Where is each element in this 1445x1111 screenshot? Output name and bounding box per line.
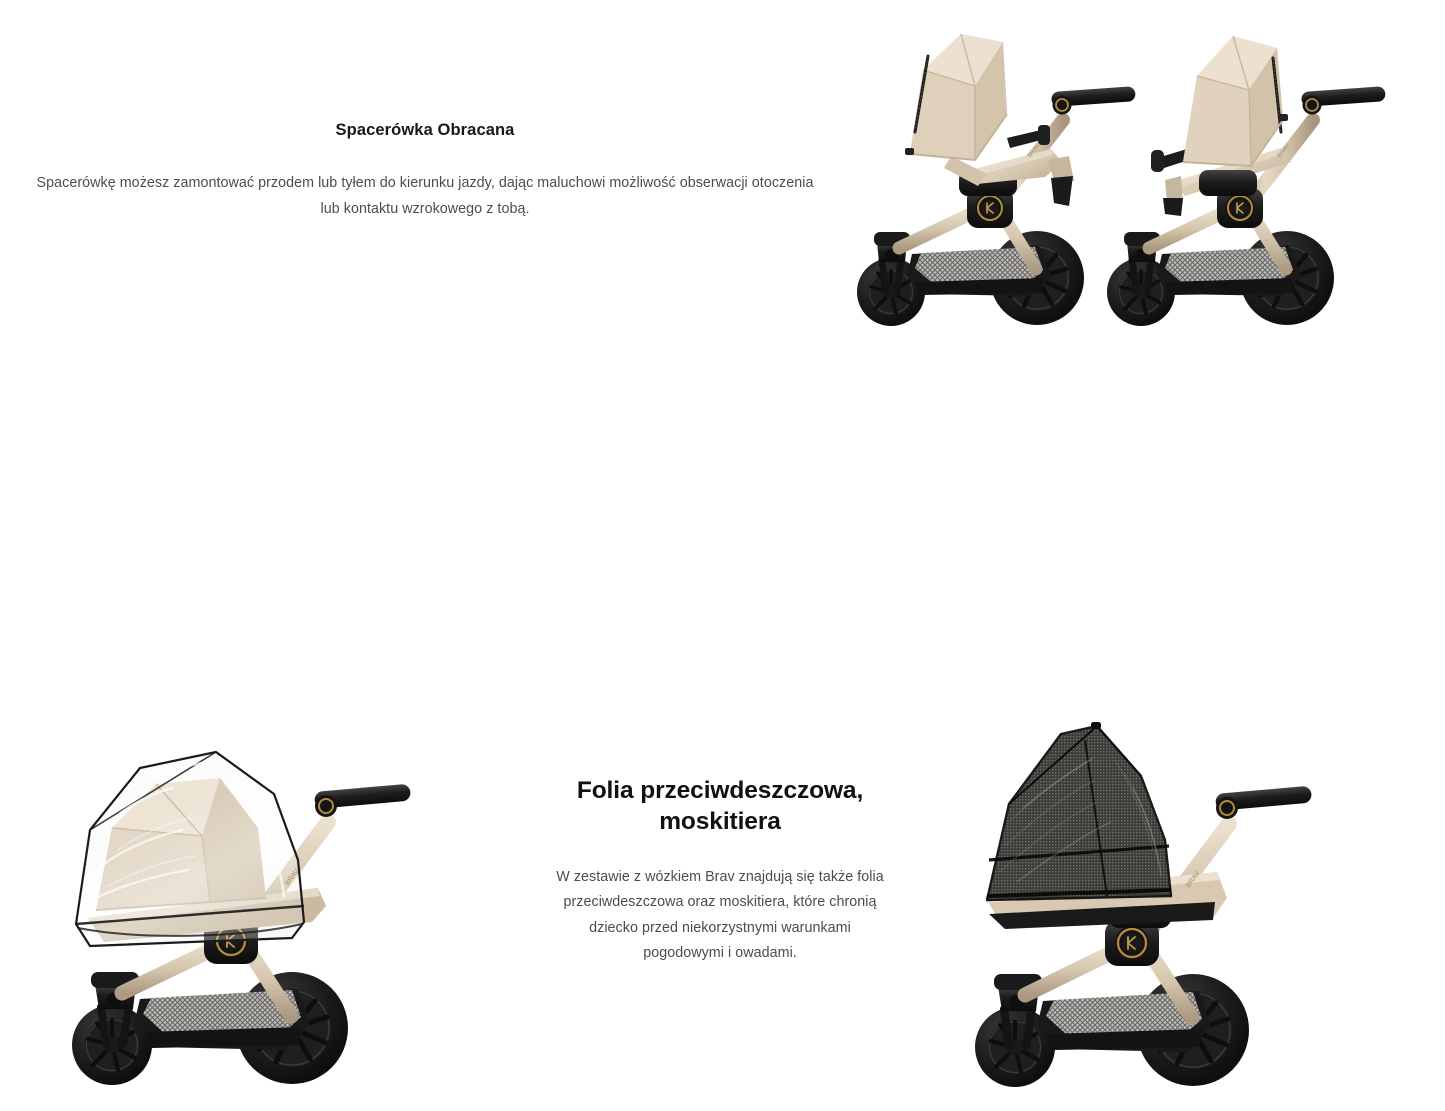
section-rotating-seat: Spacerówka Obracana Spacerówkę możesz za… bbox=[0, 0, 1445, 560]
stroller-pair-illustration: BRAV bbox=[855, 10, 1435, 350]
carrycot-rain-cover-illustration: BRAV bbox=[60, 710, 520, 1110]
rotating-seat-heading: Spacerówka Obracana bbox=[0, 120, 850, 141]
carrycot-mosquito-net-illustration: BRAV bbox=[965, 700, 1415, 1110]
handlebar bbox=[314, 784, 411, 817]
mosquito-net-image-wrapper: BRAV bbox=[965, 700, 1415, 1110]
rain-cover-image-wrapper: BRAV bbox=[60, 710, 520, 1110]
section-rain-cover-mosquito-net: BRAV Folia przeciwdeszczowa, moskitiera … bbox=[0, 560, 1445, 1111]
rain-cover bbox=[76, 752, 304, 946]
canopy-rear-facing bbox=[905, 34, 1007, 160]
rotating-seat-text-column: Spacerówka Obracana Spacerówkę możesz za… bbox=[0, 120, 850, 222]
rain-cover-text-column: Folia przeciwdeszczowa, moskitiera W zes… bbox=[520, 775, 920, 966]
handlebar bbox=[1301, 86, 1386, 114]
rain-cover-body: W zestawie z wózkiem Brav znajdują się t… bbox=[555, 865, 885, 967]
rotating-seat-body: Spacerówkę możesz zamontować przodem lub… bbox=[30, 171, 820, 221]
handlebar bbox=[1215, 786, 1312, 819]
rain-cover-heading: Folia przeciwdeszczowa, moskitiera bbox=[520, 775, 920, 838]
mosquito-net bbox=[987, 722, 1171, 900]
rotating-seat-image-group: BRAV bbox=[855, 10, 1435, 350]
canopy-forward-facing bbox=[1183, 36, 1288, 166]
stroller-rear-facing: BRAV bbox=[857, 34, 1136, 326]
stroller-forward-facing: BRAV bbox=[1107, 36, 1386, 326]
handlebar bbox=[1051, 86, 1136, 114]
